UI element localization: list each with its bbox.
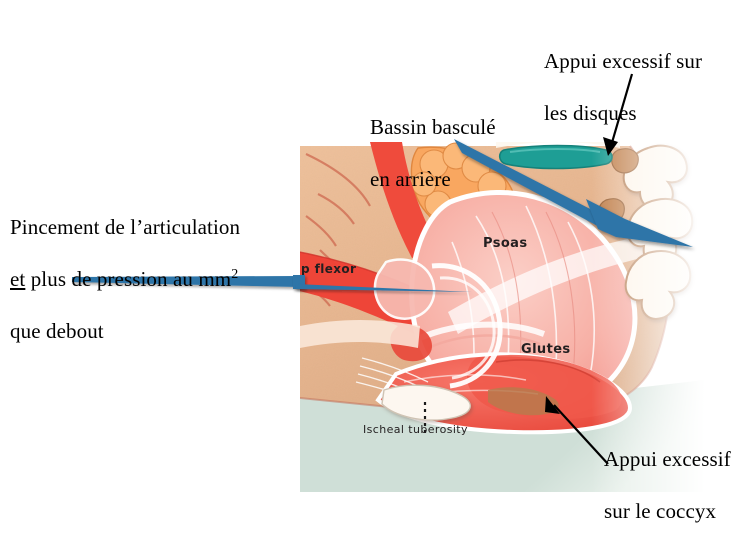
callout-bassin-bascule-line1: Bassin basculé <box>370 114 496 140</box>
callout-bassin-bascule: Bassin basculé en arrière <box>370 88 496 218</box>
anatomy-label-hip-flexor: p flexor <box>301 262 356 276</box>
callout-appui-coccyx: Appui excessif sur le coccyx <box>604 420 731 550</box>
anatomy-label-glutes: Glutes <box>521 342 571 357</box>
callout-appui-disques: Appui excessif sur les disques <box>544 22 702 152</box>
callout-pincement-articulation: Pincement de l’articulation et plus de p… <box>10 188 240 370</box>
callout-pincement-superscript: 2 <box>231 267 238 282</box>
anatomy-label-ischeal-tuberosity: Ischeal tuberosity <box>363 423 468 436</box>
callout-bassin-bascule-line2: en arrière <box>370 166 496 192</box>
callout-pincement-line3: que debout <box>10 318 240 344</box>
anatomy-label-psoas: Psoas <box>483 236 527 251</box>
slide-canvas: Psoas Glutes p flexor Ischeal tuberosity <box>0 0 751 492</box>
callout-pincement-line2: et plus de pression au mm2 <box>10 266 240 292</box>
callout-pincement-line2-rest: plus de pression au mm <box>25 267 231 291</box>
callout-appui-disques-line1: Appui excessif sur <box>544 48 702 74</box>
callout-appui-coccyx-line2: sur le coccyx <box>604 498 731 524</box>
callout-pincement-underlined-et: et <box>10 267 25 291</box>
callout-appui-coccyx-line1: Appui excessif <box>604 446 731 472</box>
callout-pincement-line1: Pincement de l’articulation <box>10 214 240 240</box>
callout-appui-disques-line2: les disques <box>544 100 702 126</box>
